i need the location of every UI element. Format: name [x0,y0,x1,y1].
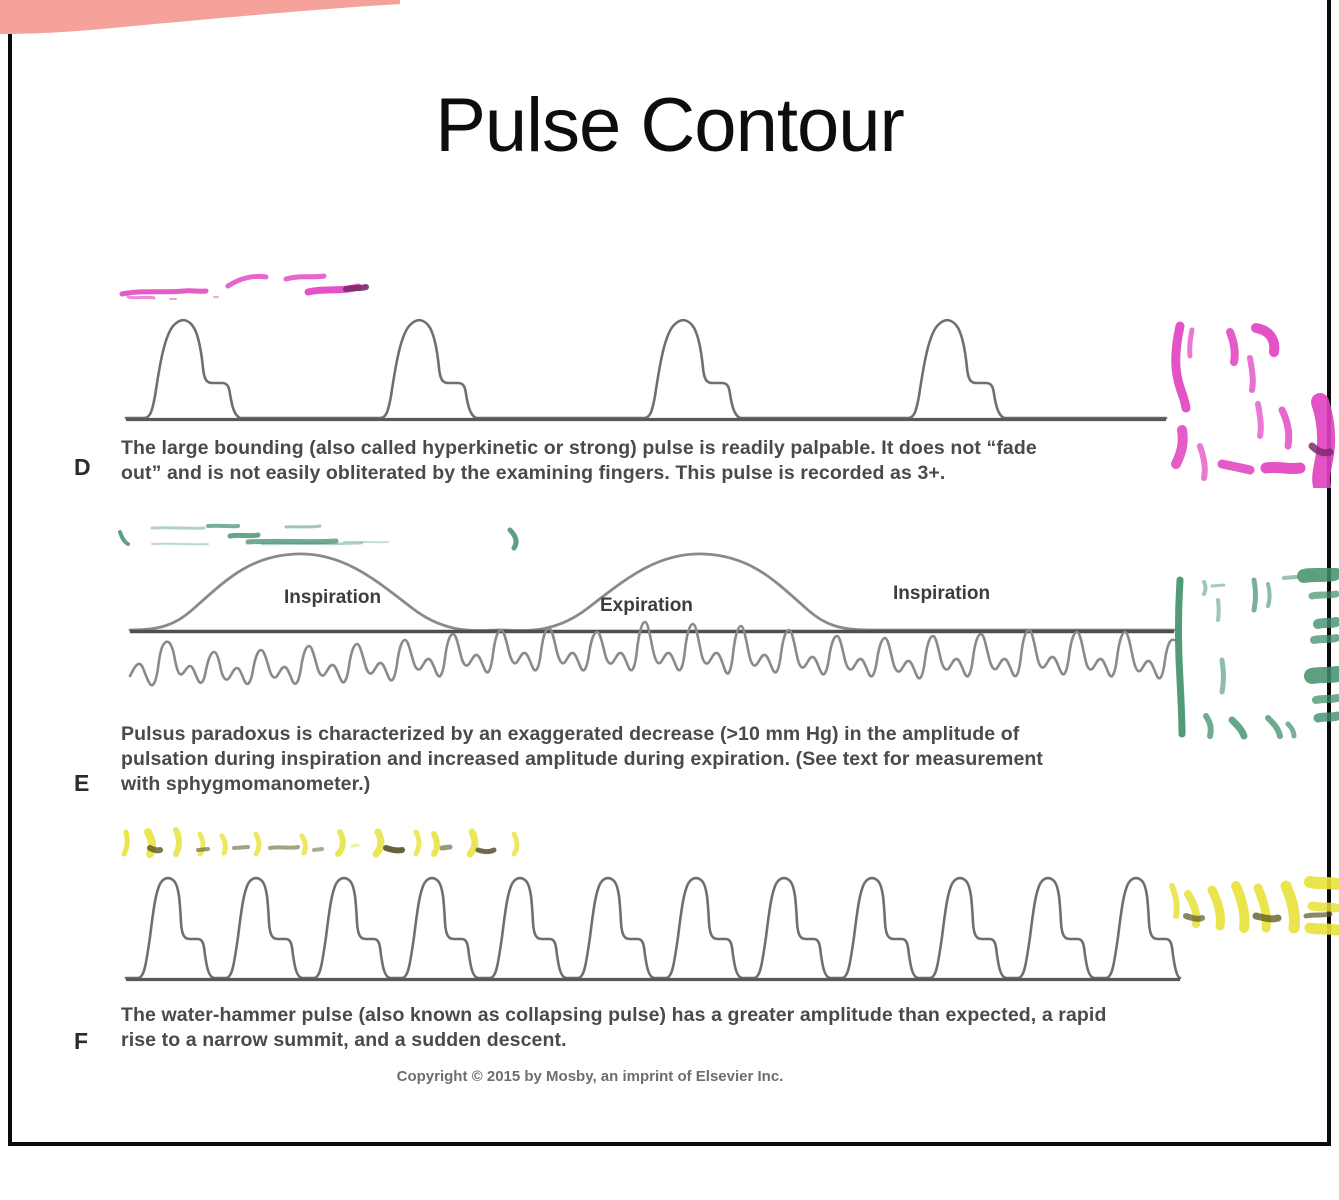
respiration-label-inspiration-2: Inspiration [893,583,990,605]
panel-d-waveform [122,300,1170,425]
bounding-pulse-trace [122,300,1170,425]
panel-letter-d: D [74,454,91,481]
respiration-label-inspiration-1: Inspiration [284,587,381,609]
panel-caption-f: The water-hammer pulse (also known as co… [121,1003,1131,1053]
panel-caption-e: Pulsus paradoxus is characterized by an … [121,722,1086,797]
page-title: Pulse Contour [0,82,1339,169]
panel-caption-d: The large bounding (also called hyperkin… [121,436,1071,486]
copyright-notice: Copyright © 2015 by Mosby, an imprint of… [0,1068,1180,1085]
water-hammer-pulse-trace [122,865,1182,985]
pulsus-paradoxus-trace [128,548,1176,708]
panel-e-waveform [128,548,1176,708]
respiration-label-expiration: Expiration [600,595,693,617]
panel-letter-e: E [74,770,89,797]
panel-f-waveform [122,865,1182,985]
panel-letter-f: F [74,1028,88,1055]
